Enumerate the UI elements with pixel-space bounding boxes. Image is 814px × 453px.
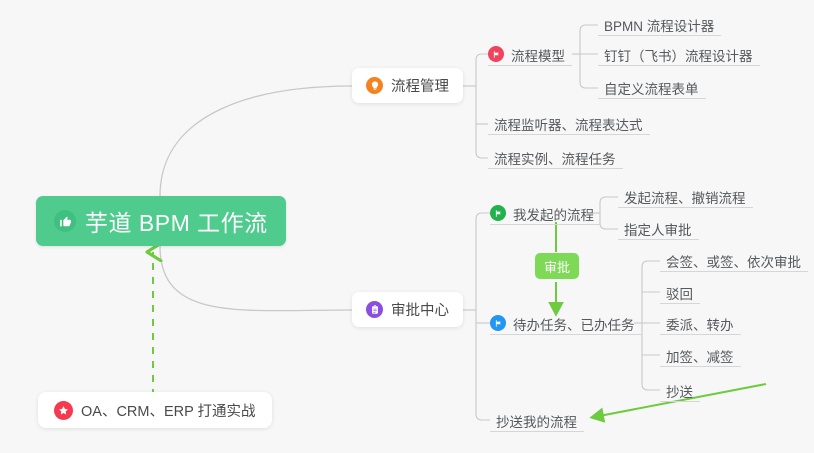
connector-root-to-process-management bbox=[160, 86, 352, 196]
note-label: OA、CRM、ERP 打通实战 bbox=[81, 400, 256, 421]
leaf-label-cc-to-me: 抄送我的流程 bbox=[496, 416, 577, 430]
lightbulb-icon bbox=[366, 77, 383, 94]
topic-label-my-initiated: 我发起的流程 bbox=[513, 209, 594, 223]
note-node-integration[interactable]: OA、CRM、ERP 打通实战 bbox=[38, 392, 272, 428]
star-icon bbox=[54, 401, 73, 420]
connector-todo-bracket bbox=[642, 261, 660, 390]
branch-node-process-management[interactable]: 流程管理 bbox=[352, 68, 463, 103]
leaf-node-dingtalk-designer[interactable]: 钉钉（飞书）流程设计器 bbox=[598, 41, 760, 66]
connector-ac-bracket bbox=[476, 213, 490, 420]
leaf-label-reject: 驳回 bbox=[666, 288, 693, 302]
leaf-label-bpmn-designer: BPMN 流程设计器 bbox=[604, 20, 714, 34]
leaf-node-bpmn-designer[interactable]: BPMN 流程设计器 bbox=[598, 11, 721, 36]
leaf-node-reject[interactable]: 驳回 bbox=[660, 279, 700, 304]
mindmap-canvas: 芋道 BPM 工作流 OA、CRM、ERP 打通实战 流程管理 流程模型 BPM… bbox=[0, 0, 814, 453]
leaf-node-countersign[interactable]: 会签、或签、依次审批 bbox=[660, 247, 808, 272]
topic-node-todo-done-tasks[interactable]: 待办任务、已办任务 bbox=[490, 310, 642, 335]
branch-node-approval-center[interactable]: 审批中心 bbox=[352, 292, 463, 327]
clipboard-icon bbox=[366, 301, 383, 318]
topic-label-process-model: 流程模型 bbox=[511, 50, 565, 64]
topic-node-process-model[interactable]: 流程模型 bbox=[488, 41, 572, 66]
leaf-label-process-instance: 流程实例、流程任务 bbox=[494, 153, 616, 167]
branch-label-process-management: 流程管理 bbox=[391, 75, 449, 96]
leaf-label-assignee-approval: 指定人审批 bbox=[624, 224, 692, 238]
root-node[interactable]: 芋道 BPM 工作流 bbox=[36, 196, 286, 246]
leaf-label-custom-form: 自定义流程表单 bbox=[604, 83, 699, 97]
leaf-node-start-cancel-flow[interactable]: 发起流程、撤销流程 bbox=[618, 183, 753, 208]
leaf-label-cc: 抄送 bbox=[666, 386, 693, 400]
branch-label-approval-center: 审批中心 bbox=[391, 299, 449, 320]
leaf-label-start-cancel-flow: 发起流程、撤销流程 bbox=[624, 192, 746, 206]
leaf-node-cc[interactable]: 抄送 bbox=[660, 377, 700, 402]
connector-model-bracket bbox=[580, 25, 598, 88]
thumbs-up-icon bbox=[54, 210, 76, 232]
connector-root-to-approval-center bbox=[160, 246, 352, 311]
leaf-label-add-remove-sign: 加签、减签 bbox=[666, 351, 734, 365]
topic-node-my-initiated[interactable]: 我发起的流程 bbox=[490, 200, 601, 225]
leaf-node-custom-form[interactable]: 自定义流程表单 bbox=[598, 74, 706, 99]
connector-pm-bracket bbox=[476, 54, 488, 158]
leaf-node-process-instance[interactable]: 流程实例、流程任务 bbox=[488, 144, 623, 169]
root-label: 芋道 BPM 工作流 bbox=[85, 204, 268, 238]
tag-node-approval[interactable]: 审批 bbox=[535, 253, 579, 279]
topic-label-todo-done-tasks: 待办任务、已办任务 bbox=[513, 319, 635, 333]
connector-init-bracket bbox=[600, 197, 618, 229]
flag-icon-blue bbox=[490, 315, 506, 331]
leaf-label-process-listener: 流程监听器、流程表达式 bbox=[494, 119, 643, 133]
leaf-node-assignee-approval[interactable]: 指定人审批 bbox=[618, 215, 699, 240]
leaf-node-delegate-transfer[interactable]: 委派、转办 bbox=[660, 310, 741, 335]
leaf-node-process-listener[interactable]: 流程监听器、流程表达式 bbox=[488, 110, 650, 135]
leaf-label-dingtalk-designer: 钉钉（飞书）流程设计器 bbox=[604, 50, 753, 64]
tag-label-approval: 审批 bbox=[544, 257, 570, 276]
leaf-label-countersign: 会签、或签、依次审批 bbox=[666, 256, 801, 270]
leaf-label-delegate-transfer: 委派、转办 bbox=[666, 319, 734, 333]
flag-icon-red bbox=[488, 46, 504, 62]
flag-icon-green bbox=[490, 205, 506, 221]
leaf-node-add-remove-sign[interactable]: 加签、减签 bbox=[660, 342, 741, 367]
leaf-node-cc-to-me[interactable]: 抄送我的流程 bbox=[490, 407, 584, 432]
